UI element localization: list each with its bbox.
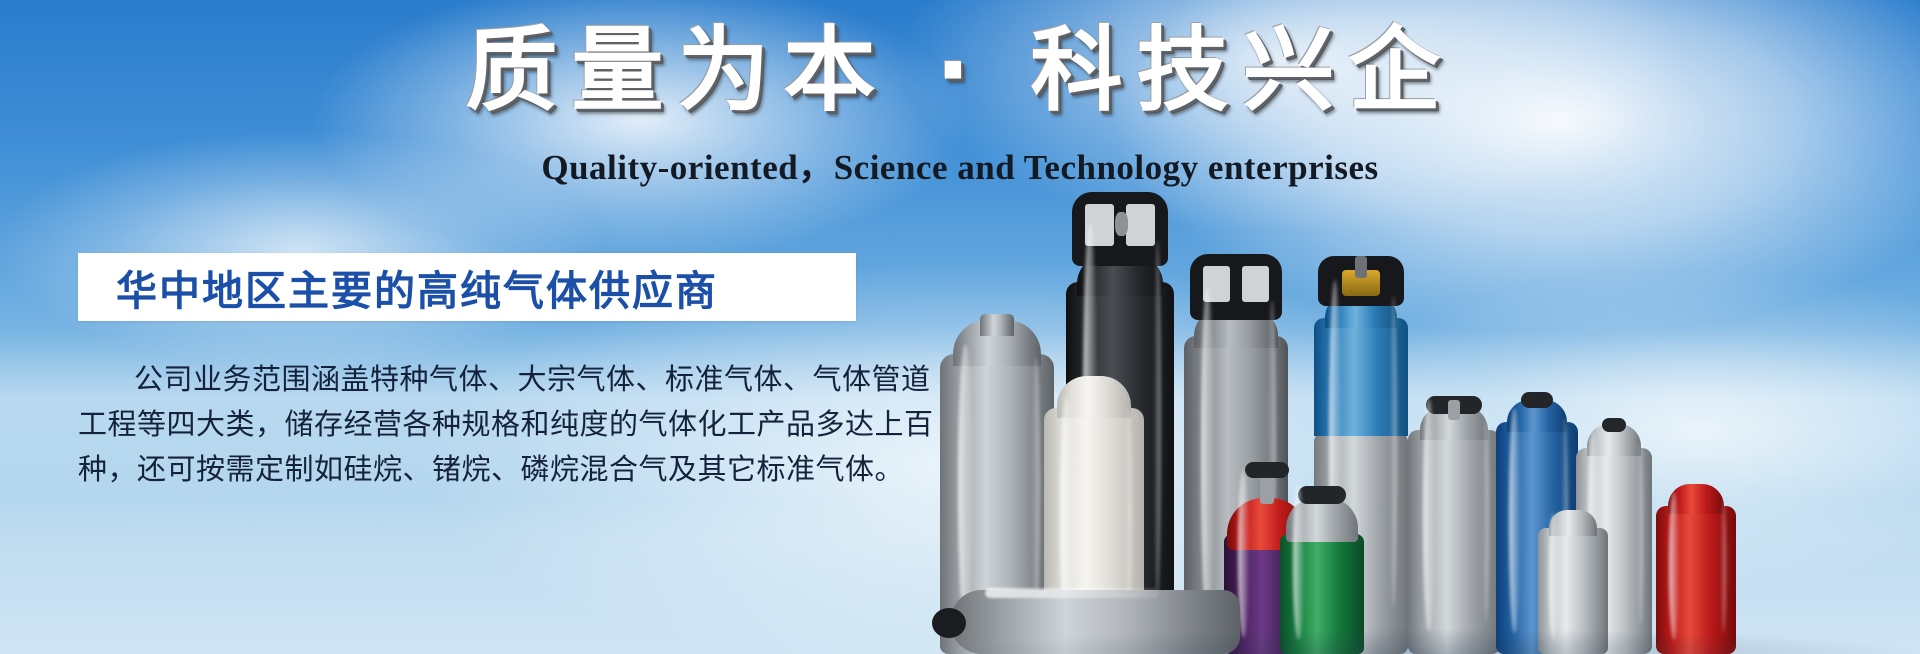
promo-banner: 质量为本 · 科技兴企 Quality-oriented，Science and… xyxy=(0,0,1920,654)
description-paragraph: 公司业务范围涵盖特种气体、大宗气体、标准气体、气体管道 工程等四大类，储存经营各… xyxy=(78,358,878,493)
paragraph-line-1: 公司业务范围涵盖特种气体、大宗气体、标准气体、气体管道 xyxy=(78,358,878,403)
page-title: 质量为本 · 科技兴企 xyxy=(465,18,1454,124)
cylinder-shadow xyxy=(940,628,1920,654)
cylinder-green-small xyxy=(1280,474,1364,654)
gas-cylinders-photo xyxy=(940,150,1920,654)
headline-container: 质量为本 · 科技兴企 xyxy=(0,18,1920,124)
valve-knob xyxy=(1521,392,1554,408)
highlight-box: 华中地区主要的高纯气体供应商 xyxy=(78,253,856,321)
highlight-box-text: 华中地区主要的高纯气体供应商 xyxy=(78,257,718,317)
paragraph-line-3: 种，还可按需定制如硅烷、锗烷、磷烷混合气及其它标准气体。 xyxy=(78,448,878,493)
valve-knob xyxy=(1298,486,1345,504)
paragraph-line-2: 工程等四大类，储存经营各种规格和纯度的气体化工产品多达上百 xyxy=(78,403,878,448)
cylinder-steel-mid xyxy=(1408,382,1500,654)
